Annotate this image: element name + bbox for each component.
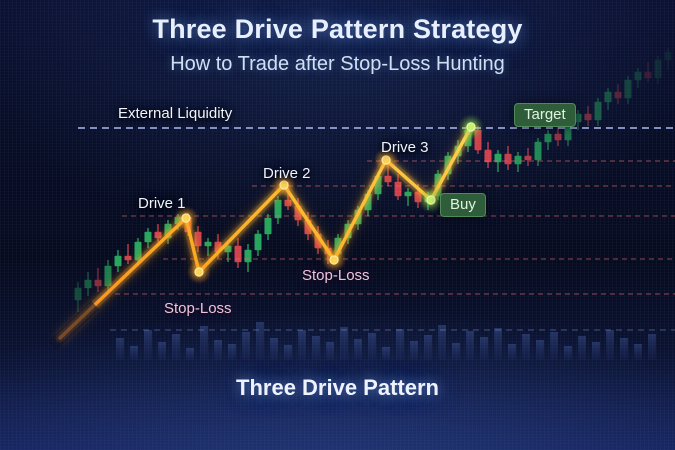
volume-bar <box>550 332 558 360</box>
pivot-dot-stop-loss-1 <box>195 268 203 276</box>
candlestick <box>615 84 621 104</box>
candlestick <box>555 126 561 146</box>
volume-bar <box>564 346 572 360</box>
volume-bar <box>158 342 166 360</box>
candlestick <box>85 272 91 296</box>
pivot-dot-buy <box>427 196 435 204</box>
candlestick <box>75 282 81 312</box>
volume-bar <box>242 332 250 360</box>
candlestick <box>575 110 581 130</box>
volume-bars <box>116 322 656 360</box>
volume-bar <box>368 333 376 360</box>
pivot-dot-drive-1 <box>182 214 190 222</box>
candlestick <box>525 148 531 166</box>
pivot-dot-stop-loss-2 <box>330 256 338 264</box>
candlestick <box>535 138 541 166</box>
volume-bar <box>354 339 362 360</box>
volume-bar <box>424 335 432 360</box>
volume-bar <box>130 346 138 360</box>
label-stop-loss-2: Stop-Loss <box>302 267 370 284</box>
candlestick <box>545 130 551 150</box>
candlestick <box>245 244 251 272</box>
candlestick <box>205 238 211 256</box>
volume-bar <box>256 322 264 360</box>
volume-bar <box>116 338 124 360</box>
candlestick <box>515 152 521 172</box>
volume-bar <box>480 337 488 360</box>
candlestick <box>115 250 121 272</box>
volume-bar <box>592 342 600 360</box>
candlestick <box>605 88 611 110</box>
candlestick <box>625 76 631 104</box>
page-subtitle: How to Trade after Stop-Loss Hunting <box>0 53 675 76</box>
volume-bar <box>298 330 306 360</box>
volume-bar <box>312 336 320 360</box>
pivot-dot-drive-2 <box>280 181 288 189</box>
label-drive-1: Drive 1 <box>138 195 186 212</box>
candlestick <box>265 214 271 240</box>
volume-bar <box>536 340 544 360</box>
volume-bar <box>228 344 236 360</box>
candlestick <box>95 268 101 292</box>
candlestick <box>505 146 511 170</box>
candlestick <box>585 106 591 126</box>
label-drive-3: Drive 3 <box>381 139 429 156</box>
page-title: Three Drive Pattern Strategy <box>0 14 675 45</box>
candlestick <box>235 238 241 268</box>
pivot-dot-drive-3 <box>382 156 390 164</box>
pivot-dot-target <box>467 123 475 131</box>
label-stop-loss-1: Stop-Loss <box>164 300 232 317</box>
volume-bar <box>634 344 642 360</box>
volume-bar <box>508 344 516 360</box>
volume-bar <box>200 326 208 360</box>
volume-bar <box>214 340 222 360</box>
label-external-liquidity: External Liquidity <box>118 105 232 122</box>
volume-bar <box>270 338 278 360</box>
leg-fade-mask <box>52 305 95 346</box>
volume-bar <box>620 338 628 360</box>
volume-bar <box>396 329 404 360</box>
volume-bar <box>144 330 152 360</box>
volume-bar <box>326 342 334 360</box>
badge-target[interactable]: Target <box>514 103 576 127</box>
volume-bar <box>648 334 656 360</box>
label-drive-2: Drive 2 <box>263 165 311 182</box>
volume-bar <box>382 347 390 360</box>
volume-bar <box>452 343 460 360</box>
volume-bar <box>284 345 292 360</box>
volume-bar <box>606 330 614 360</box>
candlestick <box>125 244 131 264</box>
volume-bar <box>522 334 530 360</box>
badge-buy[interactable]: Buy <box>440 193 486 217</box>
candlestick <box>595 98 601 126</box>
volume-bar <box>186 348 194 360</box>
candlestick <box>255 230 261 256</box>
volume-bar <box>494 328 502 360</box>
infographic-canvas: Three Drive Pattern Strategy How to Trad… <box>0 0 675 450</box>
volume-bar <box>410 341 418 360</box>
candlestick <box>145 228 151 248</box>
volume-bar <box>466 331 474 360</box>
volume-bar <box>172 334 180 360</box>
volume-bar <box>340 327 348 360</box>
candlestick <box>485 142 491 168</box>
candlestick <box>405 188 411 206</box>
volume-bar <box>578 336 586 360</box>
candlestick <box>275 196 281 224</box>
pattern-caption: Three Drive Pattern <box>0 375 675 401</box>
